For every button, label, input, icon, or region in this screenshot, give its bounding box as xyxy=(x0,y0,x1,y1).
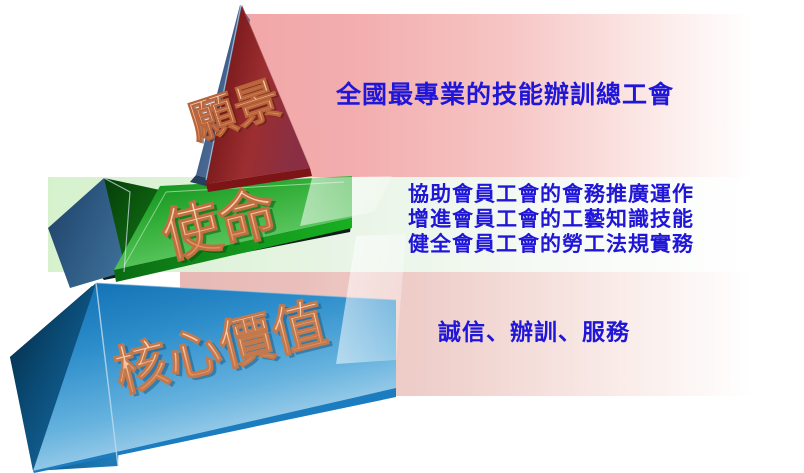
vision-line-1: 全國最專業的技能辦訓總工會 xyxy=(336,80,674,110)
vision-description: 全國最專業的技能辦訓總工會 xyxy=(336,80,674,110)
values-description: 誠信、辦訓、服務 xyxy=(438,320,630,347)
glass-overlay-lower xyxy=(336,234,406,364)
slide-canvas: 願景 願景 使命 使命 核心價值 核心價值 全國最專業的技能辦訓總工會 協助會員… xyxy=(0,0,804,473)
mission-line-2: 增進會員工會的工藝知識技能 xyxy=(408,207,694,232)
mission-line-3: 健全會員工會的勞工法規實務 xyxy=(408,232,694,257)
values-line-1: 誠信、辦訓、服務 xyxy=(438,320,630,347)
mission-description: 協助會員工會的會務推廣運作 增進會員工會的工藝知識技能 健全會員工會的勞工法規實… xyxy=(408,182,694,256)
pyramid-diagram: 願景 願景 使命 使命 核心價值 核心價值 xyxy=(0,0,420,473)
mission-line-1: 協助會員工會的會務推廣運作 xyxy=(408,182,694,207)
